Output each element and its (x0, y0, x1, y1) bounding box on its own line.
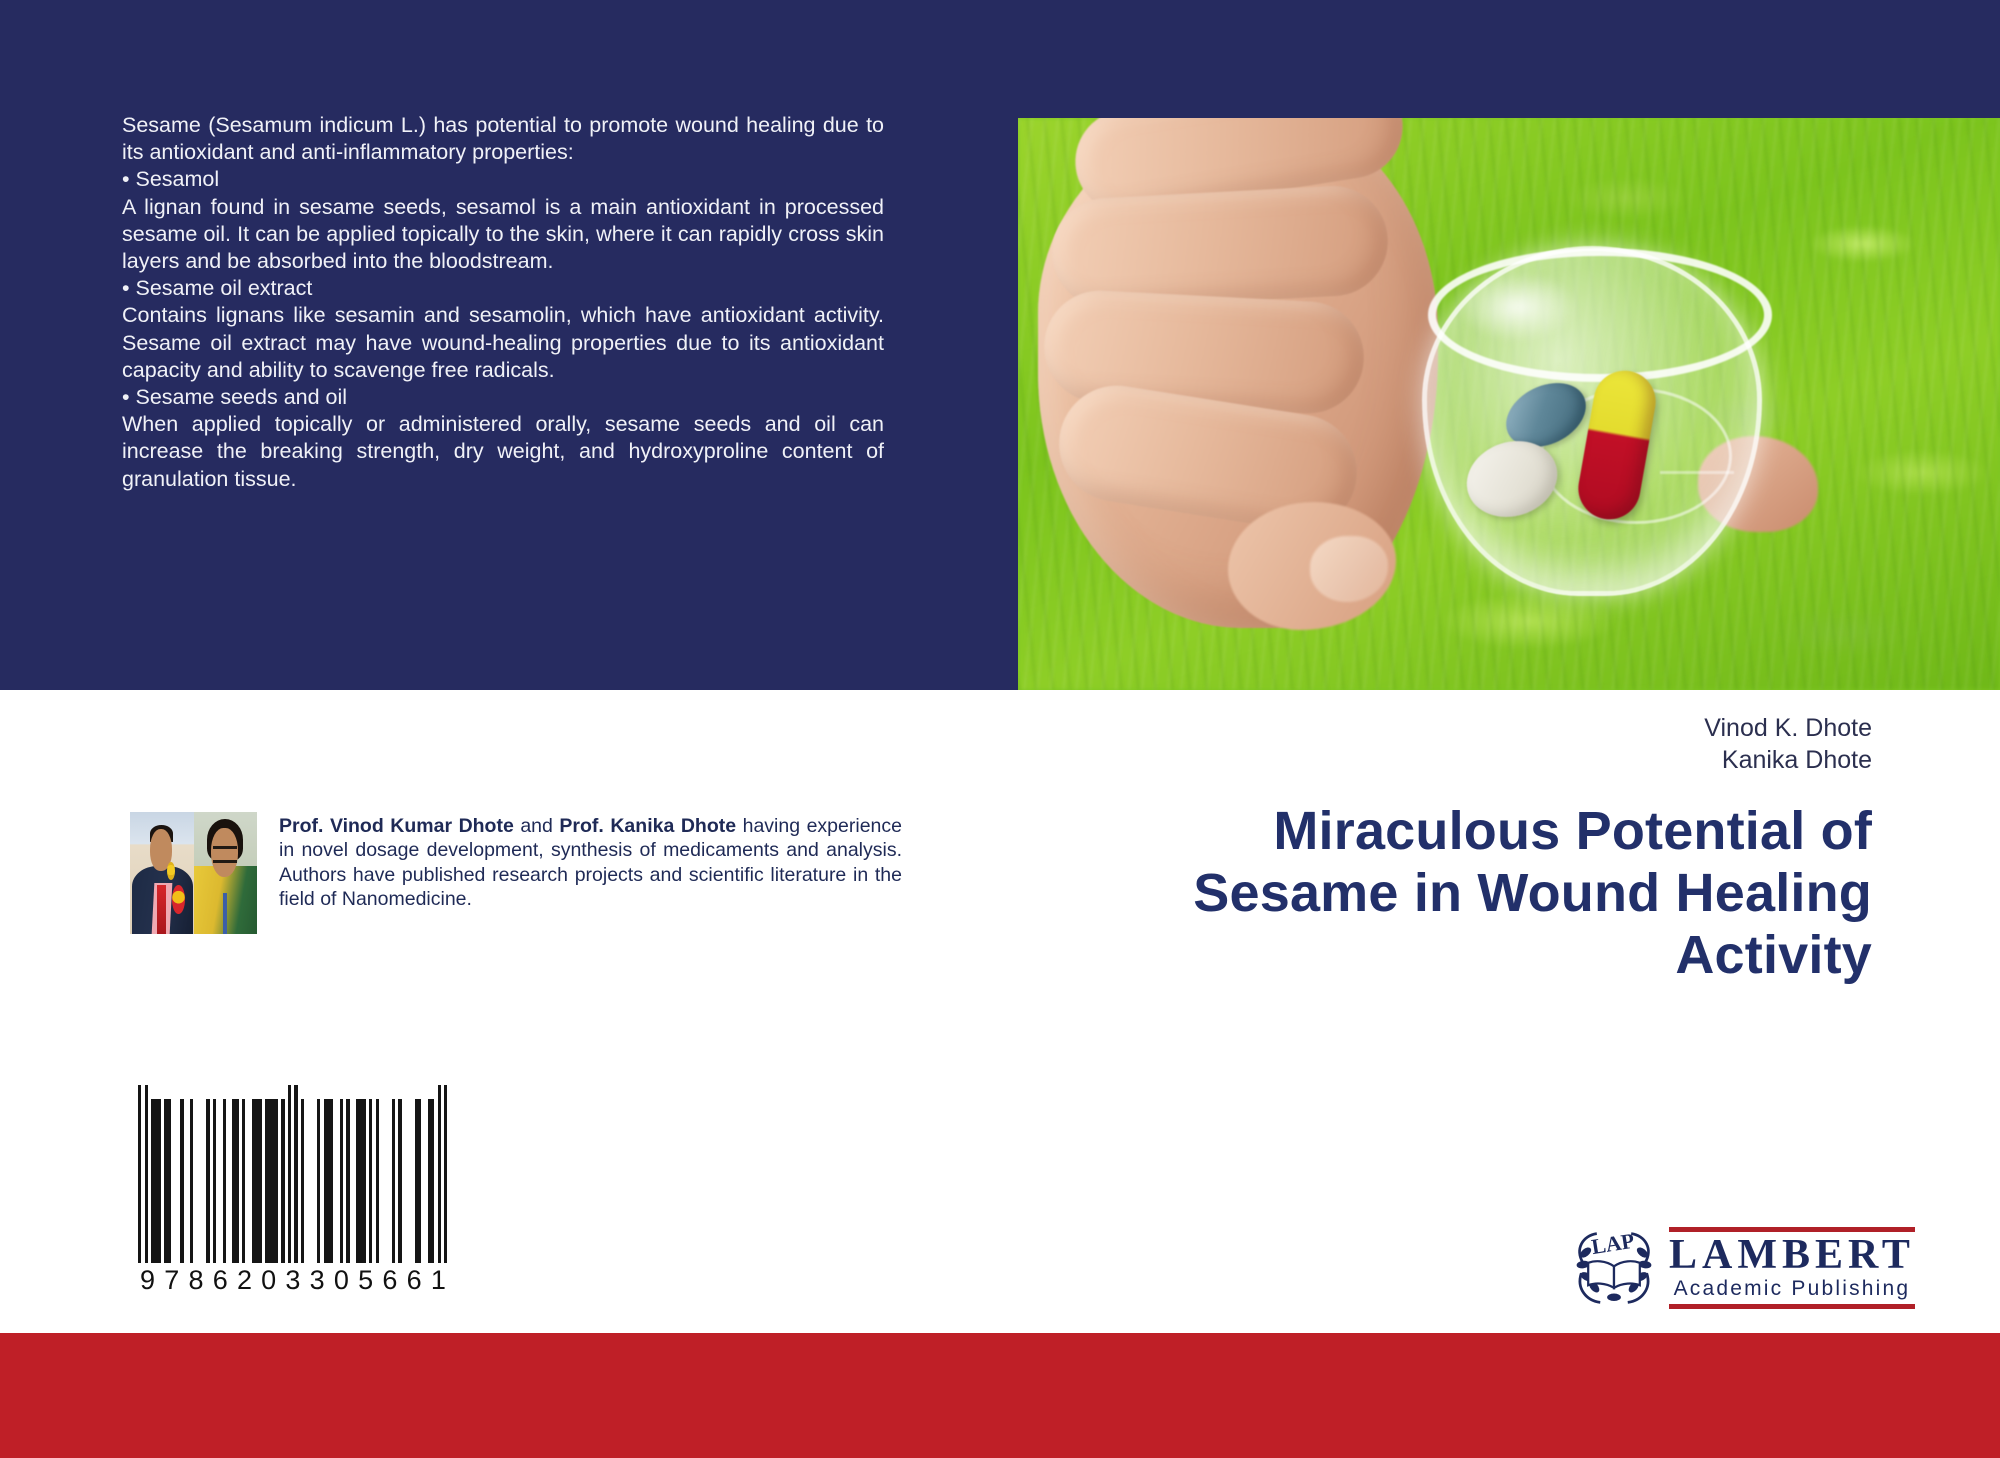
barcode-digit: 0 (261, 1265, 276, 1296)
barcode-bar (317, 1099, 320, 1263)
barcode-digit: 0 (334, 1265, 349, 1296)
back-intro-paragraph: Sesame (Sesamum indicum L.) has potentia… (122, 112, 884, 166)
front-author-two: Kanika Dhote (1172, 744, 1872, 776)
barcode-bar (376, 1099, 379, 1263)
isbn-barcode: 9786203305661 (138, 1085, 448, 1296)
barcode-digit: 6 (407, 1265, 422, 1296)
barcode-bar (145, 1085, 148, 1263)
back-bullet-sesame-oil-extract: • Sesame oil extract (122, 275, 884, 302)
barcode-bar (415, 1099, 422, 1263)
barcode-bar (281, 1099, 284, 1263)
book-cover: Sesame (Sesamum indicum L.) has potentia… (0, 0, 2000, 1458)
barcode-bar (164, 1099, 171, 1263)
publisher-name: LAMBERT (1669, 1232, 1915, 1277)
barcode-digit: 6 (382, 1265, 397, 1296)
barcode-bar (294, 1085, 297, 1263)
barcode-digit: 3 (285, 1265, 300, 1296)
author-photo-vinod-dhote (130, 812, 194, 934)
front-author-one: Vinod K. Dhote (1172, 712, 1872, 744)
barcode-bar (242, 1099, 245, 1263)
barcode-bar (301, 1099, 304, 1263)
barcode-bar (180, 1099, 183, 1263)
barcode-bar (369, 1099, 372, 1263)
glasses-icon (213, 846, 237, 863)
barcode-digit: 6 (213, 1265, 228, 1296)
author-photo-kanika-dhote (194, 812, 258, 934)
barcode-digit: 9 (140, 1265, 155, 1296)
barcode-bar (324, 1099, 334, 1263)
barcode-digit: 2 (237, 1265, 252, 1296)
barcode-bar (438, 1085, 441, 1263)
author-name-one: Prof. Vinod Kumar Dhote (279, 815, 514, 837)
logo-rule-bottom (1669, 1304, 1915, 1309)
author-photos (130, 812, 257, 934)
barcode-digit: 5 (358, 1265, 373, 1296)
lap-open-book-laurel-icon: LAP (1571, 1225, 1657, 1311)
cover-photo (1018, 118, 2000, 690)
publisher-tagline: Academic Publishing (1669, 1277, 1915, 1304)
bottom-red-band (0, 1333, 2000, 1458)
publisher-logo: LAP LAMBERT Academic Publishing (1571, 1222, 1891, 1314)
back-body-sesame-seeds-and-oil: When applied topically or administered o… (122, 411, 884, 493)
book-title: Miraculous Potential of Sesame in Wound … (1162, 800, 1872, 986)
barcode-bar (213, 1099, 216, 1263)
barcode-digit: 8 (188, 1265, 203, 1296)
author-name-two: Prof. Kanika Dhote (559, 815, 736, 837)
front-cover-authors: Vinod K. Dhote Kanika Dhote (1172, 712, 1872, 776)
back-bullet-sesamol: • Sesamol (122, 166, 884, 193)
barcode-bar (356, 1099, 366, 1263)
barcode-bar (398, 1099, 401, 1263)
barcode-digit: 7 (164, 1265, 179, 1296)
barcode-bar (206, 1099, 209, 1263)
back-bullet-sesame-seeds-and-oil: • Sesame seeds and oil (122, 384, 884, 411)
back-cover-text: Sesame (Sesamum indicum L.) has potentia… (122, 112, 884, 493)
barcode-bar (223, 1099, 226, 1263)
publisher-wordmark: LAMBERT Academic Publishing (1669, 1227, 1915, 1309)
barcode-bar (232, 1099, 239, 1263)
cup-highlight (1458, 272, 1578, 342)
barcode-bar (392, 1099, 395, 1263)
barcode-digit: 3 (310, 1265, 325, 1296)
bio-conjunction: and (514, 815, 560, 837)
medicine-cup (1422, 246, 1762, 596)
barcode-bar (151, 1099, 161, 1263)
barcode-bar (428, 1099, 435, 1263)
back-body-sesame-oil-extract: Contains lignans like sesamin and sesamo… (122, 302, 884, 384)
barcode-bar (190, 1099, 193, 1263)
barcode-bar (346, 1099, 349, 1263)
barcode-bars (138, 1085, 448, 1263)
author-bio-text: Prof. Vinod Kumar Dhote and Prof. Kanika… (279, 812, 902, 934)
barcode-bar (265, 1099, 278, 1263)
barcode-bar (138, 1085, 141, 1263)
barcode-bar (252, 1099, 262, 1263)
barcode-bar (288, 1085, 291, 1263)
author-bio-block: Prof. Vinod Kumar Dhote and Prof. Kanika… (130, 812, 902, 934)
barcode-digit: 1 (431, 1265, 446, 1296)
barcode-bar (444, 1085, 447, 1263)
back-body-sesamol: A lignan found in sesame seeds, sesamol … (122, 194, 884, 276)
barcode-bar (340, 1099, 343, 1263)
barcode-digits: 9786203305661 (138, 1263, 448, 1296)
